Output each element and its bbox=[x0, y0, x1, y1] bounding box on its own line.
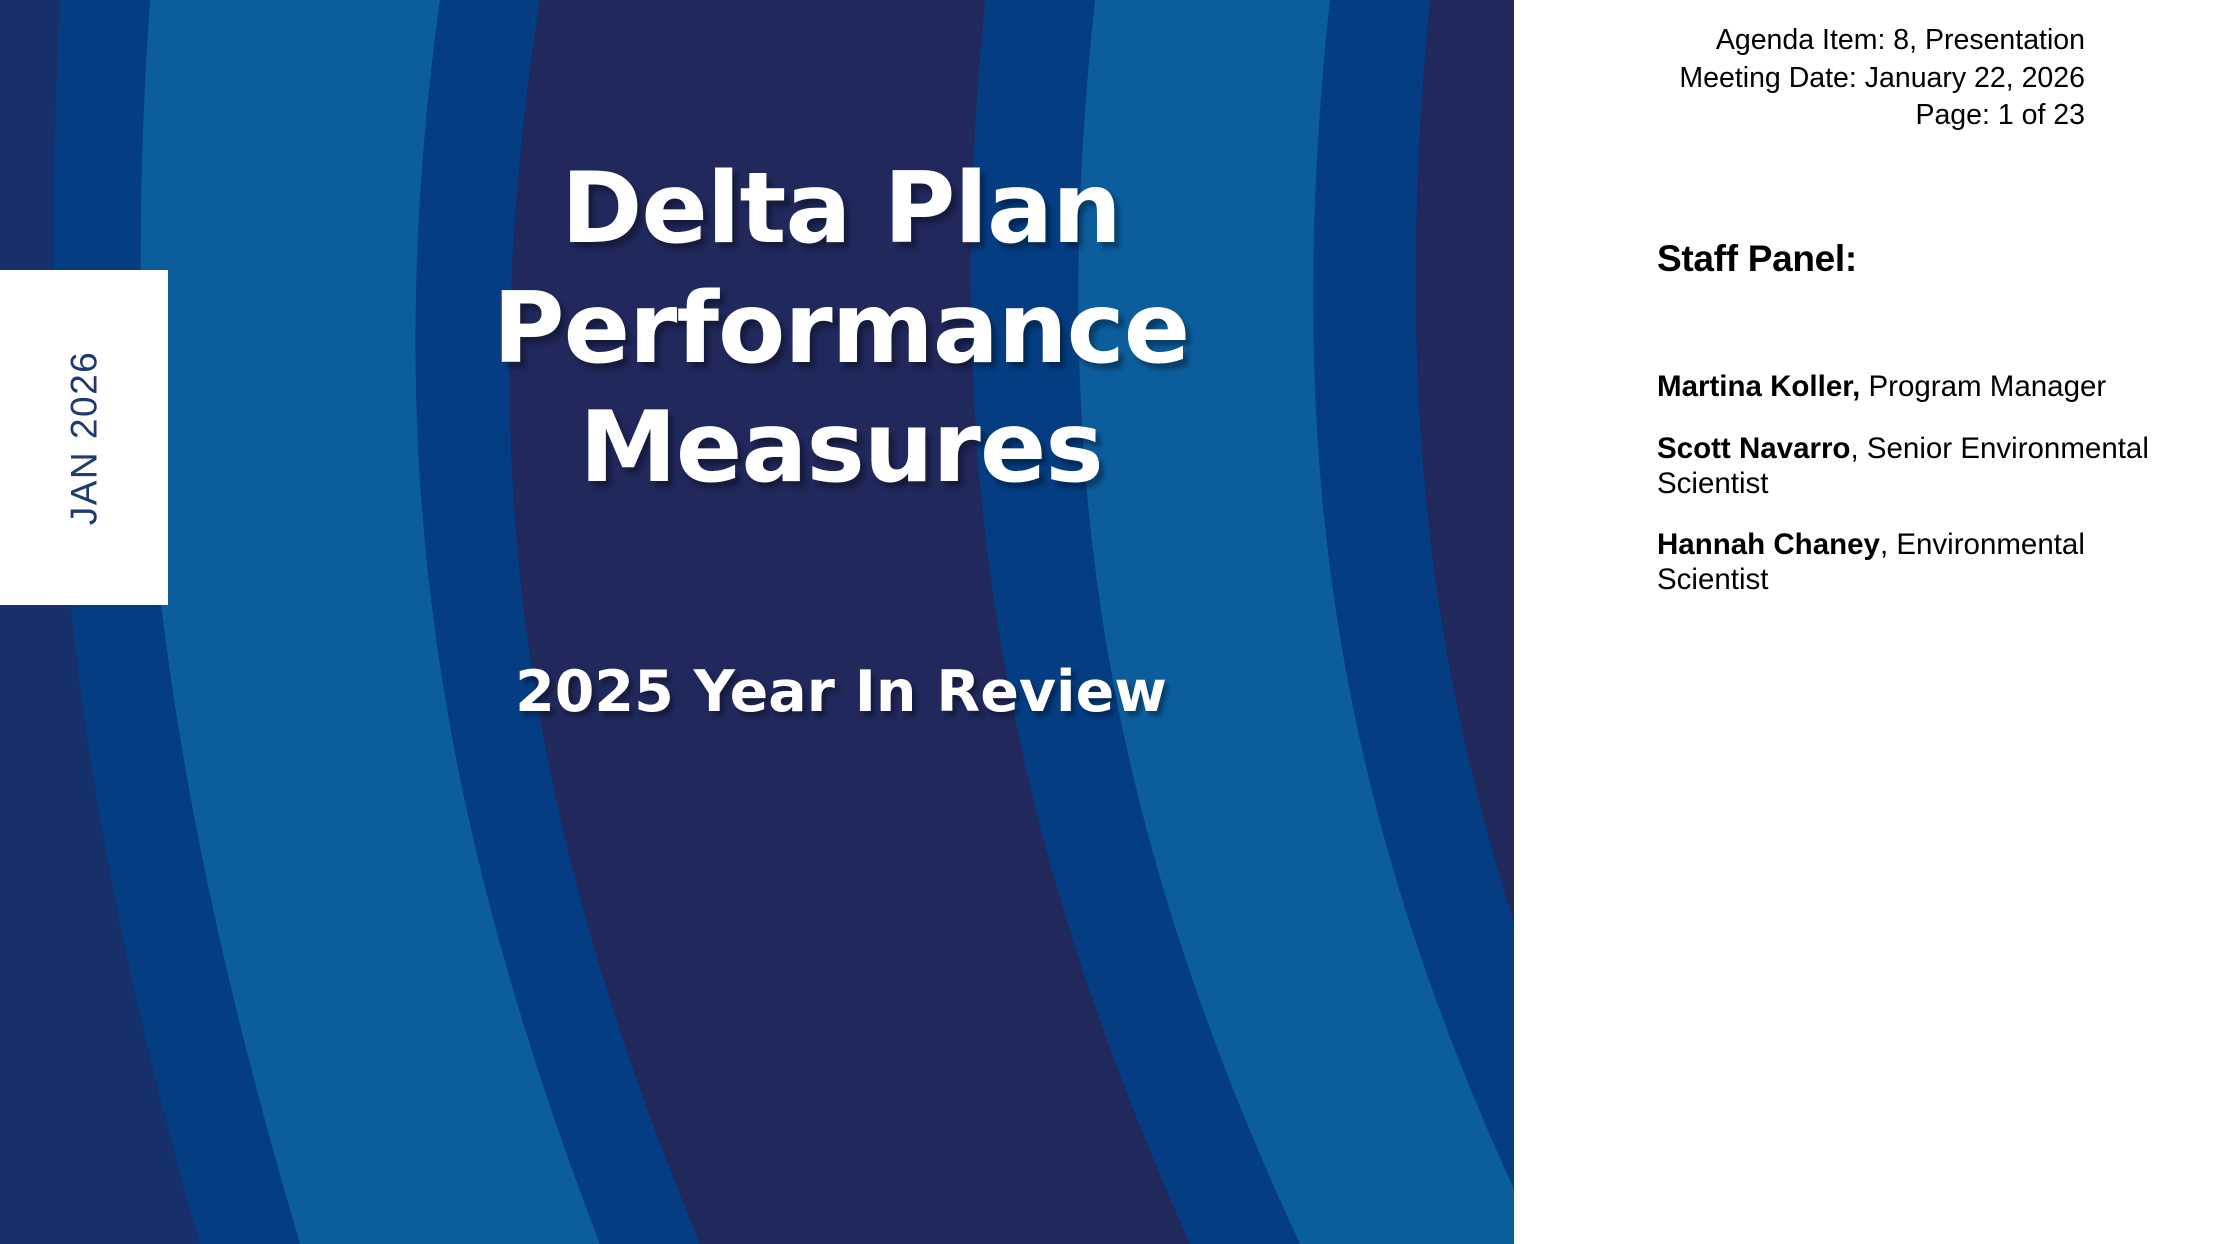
staff-member-name: Martina Koller, bbox=[1657, 370, 1860, 403]
staff-panel-heading: Staff Panel: bbox=[1657, 238, 1857, 280]
meta-page-number: Page: 1 of 23 bbox=[1565, 97, 2085, 135]
month-tab: JAN 2026 bbox=[0, 270, 168, 605]
meta-meeting-date: Meeting Date: January 22, 2026 bbox=[1565, 60, 2085, 98]
slide-root: JAN 2026 Delta Plan Performance Measures… bbox=[0, 0, 2234, 1244]
staff-panel-list: Martina Koller, Program Manager Scott Na… bbox=[1657, 370, 2187, 625]
staff-member-name: Hannah Chaney bbox=[1657, 528, 1880, 561]
month-tab-label: JAN 2026 bbox=[63, 350, 105, 525]
staff-member: Martina Koller, Program Manager bbox=[1657, 370, 2187, 405]
title-block: Delta Plan Performance Measures 2025 Yea… bbox=[168, 150, 1514, 725]
hero-title-line-3: Measures bbox=[208, 389, 1474, 509]
side-column: Agenda Item: 8, Presentation Meeting Dat… bbox=[1514, 0, 2234, 1244]
staff-member: Hannah Chaney, Environmental Scientist bbox=[1657, 528, 2187, 598]
document-meta: Agenda Item: 8, Presentation Meeting Dat… bbox=[1565, 22, 2085, 135]
hero-title: Delta Plan Performance Measures bbox=[168, 150, 1514, 509]
staff-member-role: Program Manager bbox=[1860, 370, 2106, 403]
hero-title-line-1: Delta Plan bbox=[208, 150, 1474, 270]
hero-panel: JAN 2026 Delta Plan Performance Measures… bbox=[0, 0, 1514, 1244]
staff-member: Scott Navarro, Senior Environmental Scie… bbox=[1657, 432, 2187, 502]
hero-title-line-2: Performance bbox=[208, 270, 1474, 390]
meta-agenda-item: Agenda Item: 8, Presentation bbox=[1565, 22, 2085, 60]
staff-member-name: Scott Navarro bbox=[1657, 432, 1850, 465]
hero-subtitle: 2025 Year In Review bbox=[168, 659, 1514, 725]
